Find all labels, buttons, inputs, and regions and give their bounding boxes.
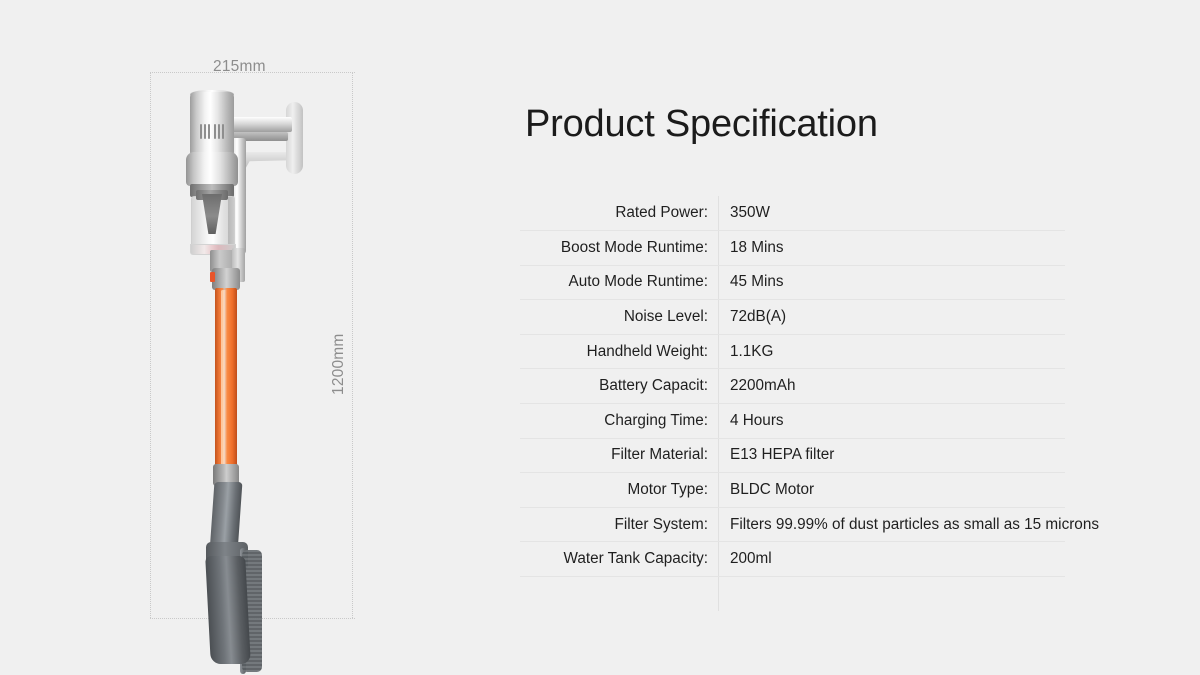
- spec-value: 72dB(A): [719, 300, 1066, 335]
- table-row: Battery Capacit: 2200mAh: [520, 369, 1065, 404]
- spec-value: 45 Mins: [719, 265, 1066, 300]
- spec-value: [719, 577, 1066, 612]
- spec-value: Filters 99.99% of dust particles as smal…: [719, 507, 1066, 542]
- spec-value: 18 Mins: [719, 231, 1066, 266]
- motor-housing: [190, 92, 234, 154]
- table-row-empty: [520, 577, 1065, 612]
- extension-wand: [215, 288, 237, 468]
- spec-value: BLDC Motor: [719, 473, 1066, 508]
- product-diagram-panel: 215mm 1200mm: [0, 0, 500, 675]
- page-title: Product Specification: [525, 103, 878, 146]
- product-specification-page: 215mm 1200mm: [0, 0, 1200, 675]
- spec-label: Boost Mode Runtime:: [520, 231, 719, 266]
- table-row: Water Tank Capacity: 200ml: [520, 542, 1065, 577]
- wand-highlight: [221, 290, 224, 466]
- table-row: Noise Level: 72dB(A): [520, 300, 1065, 335]
- spec-label: Water Tank Capacity:: [520, 542, 719, 577]
- table-row: Charging Time: 4 Hours: [520, 404, 1065, 439]
- specification-panel: Product Specification Rated Power: 350W …: [500, 0, 1200, 675]
- spec-value: 2200mAh: [719, 369, 1066, 404]
- wand-top-connector: [212, 268, 240, 290]
- handle-grip: [286, 102, 303, 174]
- spec-label: Noise Level:: [520, 300, 719, 335]
- table-row: Auto Mode Runtime: 45 Mins: [520, 265, 1065, 300]
- spec-label: Motor Type:: [520, 473, 719, 508]
- vacuum-cleaner-illustration: [150, 72, 355, 620]
- spec-label: Handheld Weight:: [520, 334, 719, 369]
- motor-vents: [200, 124, 226, 139]
- spec-value: 1.1KG: [719, 334, 1066, 369]
- table-row: Motor Type: BLDC Motor: [520, 473, 1065, 508]
- specification-table: Rated Power: 350W Boost Mode Runtime: 18…: [520, 196, 1065, 611]
- table-row: Rated Power: 350W: [520, 196, 1065, 231]
- spec-value: 200ml: [719, 542, 1066, 577]
- handle-arm-upper: [230, 117, 292, 132]
- table-row: Filter Material: E13 HEPA filter: [520, 438, 1065, 473]
- spec-value: 350W: [719, 196, 1066, 231]
- floor-head-body: [205, 556, 251, 664]
- wand-release-button: [210, 272, 215, 282]
- motor-bulge: [186, 152, 238, 186]
- spec-label: Auto Mode Runtime:: [520, 265, 719, 300]
- spec-label: Filter Material:: [520, 438, 719, 473]
- spec-label: Filter System:: [520, 507, 719, 542]
- spec-value: 4 Hours: [719, 404, 1066, 439]
- table-row: Filter System: Filters 99.99% of dust pa…: [520, 507, 1065, 542]
- spec-label: Rated Power:: [520, 196, 719, 231]
- spec-label: Charging Time:: [520, 404, 719, 439]
- spec-label: [520, 577, 719, 612]
- spec-value: E13 HEPA filter: [719, 438, 1066, 473]
- spec-label: Battery Capacit:: [520, 369, 719, 404]
- table-row: Handheld Weight: 1.1KG: [520, 334, 1065, 369]
- table-row: Boost Mode Runtime: 18 Mins: [520, 231, 1065, 266]
